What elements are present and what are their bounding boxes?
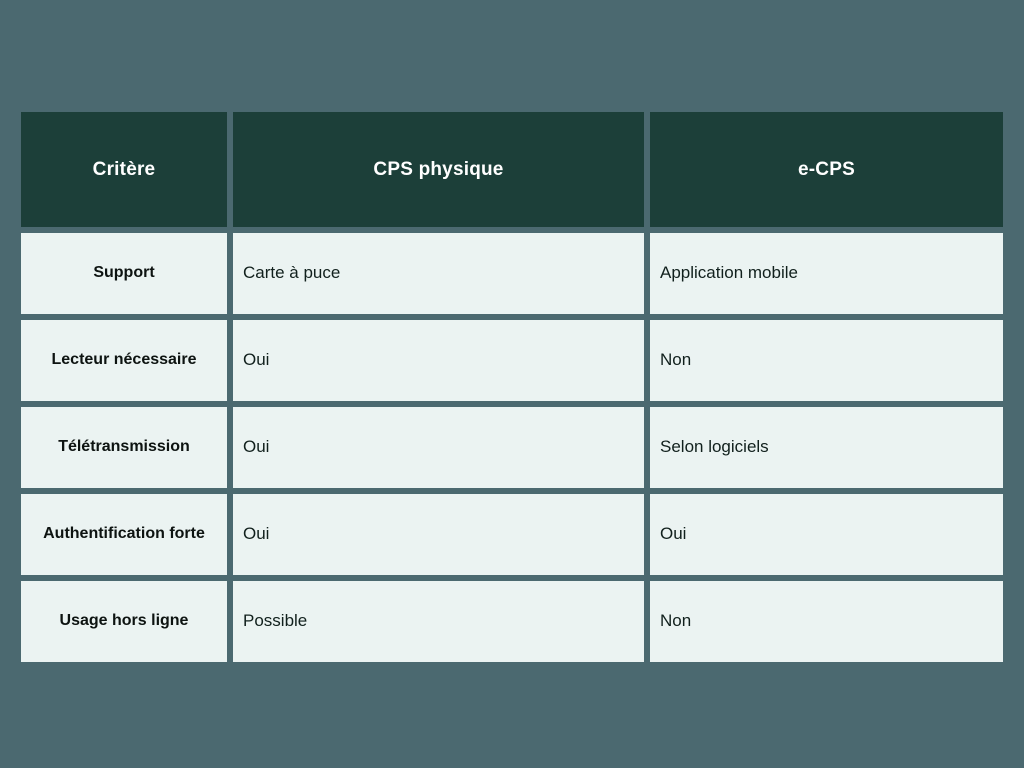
- table-header-row: Critère CPS physique e-CPS: [21, 112, 1003, 227]
- row-cps-physique-value: Oui: [243, 523, 269, 545]
- row-criterion-cell: Lecteur nécessaire: [21, 320, 227, 401]
- row-ecps-cell: Oui: [650, 494, 1003, 575]
- row-cps-physique-cell: Carte à puce: [233, 233, 644, 314]
- row-ecps-value: Application mobile: [660, 262, 798, 284]
- row-cps-physique-value: Oui: [243, 349, 269, 371]
- row-cps-physique-value: Carte à puce: [243, 262, 340, 284]
- row-cps-physique-cell: Possible: [233, 581, 644, 662]
- column-header-label: e-CPS: [798, 158, 855, 182]
- table-row: Support Carte à puce Application mobile: [21, 233, 1003, 314]
- row-cps-physique-cell: Oui: [233, 320, 644, 401]
- row-criterion-label: Télétransmission: [58, 437, 190, 458]
- row-ecps-value: Non: [660, 610, 691, 632]
- row-ecps-cell: Non: [650, 581, 1003, 662]
- row-cps-physique-cell: Oui: [233, 494, 644, 575]
- comparison-table: Critère CPS physique e-CPS Support Carte…: [21, 112, 1003, 662]
- row-ecps-value: Oui: [660, 523, 686, 545]
- row-criterion-label: Lecteur nécessaire: [52, 350, 197, 371]
- row-cps-physique-value: Possible: [243, 610, 307, 632]
- row-ecps-cell: Application mobile: [650, 233, 1003, 314]
- column-header-label: Critère: [93, 158, 156, 182]
- table-row: Télétransmission Oui Selon logiciels: [21, 407, 1003, 488]
- row-criterion-label: Support: [93, 263, 154, 284]
- row-criterion-cell: Support: [21, 233, 227, 314]
- column-header-critere: Critère: [21, 112, 227, 227]
- comparison-table-slide: Critère CPS physique e-CPS Support Carte…: [0, 0, 1024, 768]
- row-ecps-cell: Selon logiciels: [650, 407, 1003, 488]
- row-criterion-cell: Authentification forte: [21, 494, 227, 575]
- table-row: Authentification forte Oui Oui: [21, 494, 1003, 575]
- column-header-ecps: e-CPS: [650, 112, 1003, 227]
- row-cps-physique-value: Oui: [243, 436, 269, 458]
- table-row: Usage hors ligne Possible Non: [21, 581, 1003, 662]
- column-header-label: CPS physique: [373, 158, 503, 182]
- row-criterion-label: Authentification forte: [43, 524, 205, 545]
- column-header-cps-physique: CPS physique: [233, 112, 644, 227]
- row-ecps-value: Non: [660, 349, 691, 371]
- row-criterion-cell: Télétransmission: [21, 407, 227, 488]
- row-ecps-cell: Non: [650, 320, 1003, 401]
- row-cps-physique-cell: Oui: [233, 407, 644, 488]
- row-criterion-label: Usage hors ligne: [60, 611, 189, 632]
- row-criterion-cell: Usage hors ligne: [21, 581, 227, 662]
- row-ecps-value: Selon logiciels: [660, 436, 769, 458]
- table-row: Lecteur nécessaire Oui Non: [21, 320, 1003, 401]
